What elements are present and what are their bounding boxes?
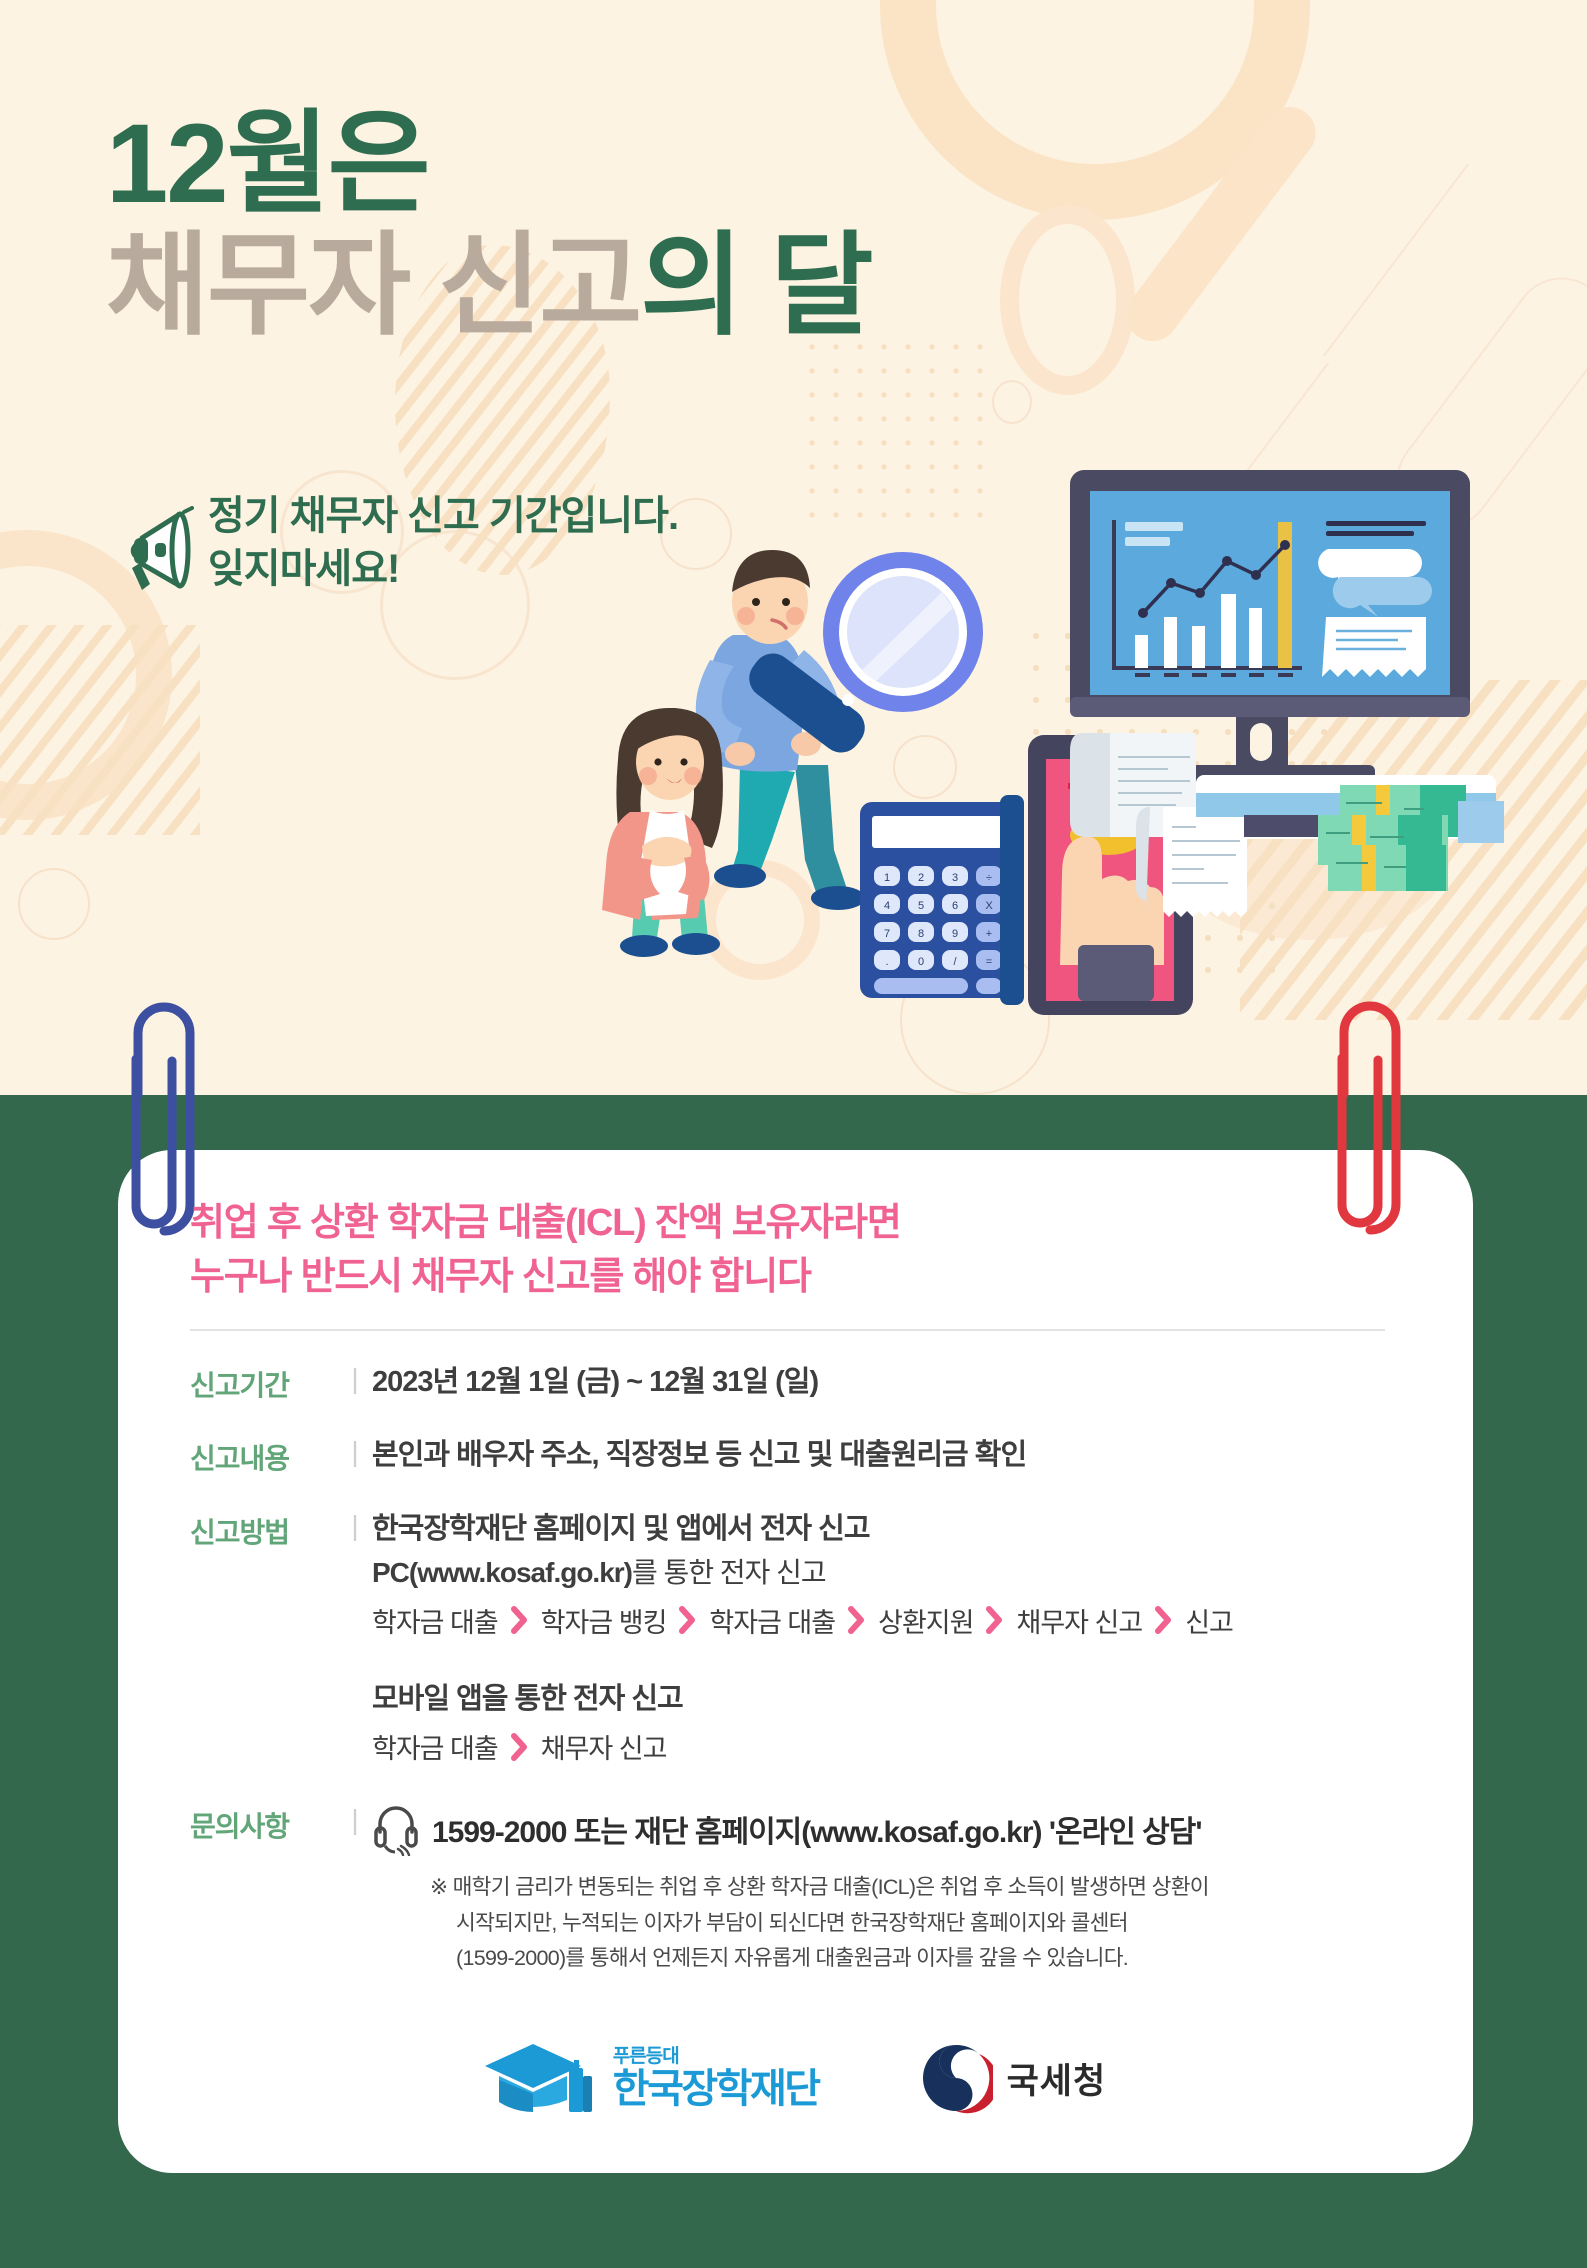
chevron-right-icon xyxy=(848,1606,865,1634)
breadcrumb-mobile: 학자금 대출 채무자 신고 xyxy=(372,1727,1420,1766)
contact-note-line-3: (1599-2000)를 통해서 언제든지 자유롭게 대출원금과 이자를 갚을 … xyxy=(430,1941,1420,1976)
graduation-cap-icon xyxy=(481,2040,599,2116)
subtitle-line-2: 잊지마세요! xyxy=(208,543,678,596)
card-headline-line-1: 취업 후 상환 학자금 대출(ICL) 잔액 보유자라면 xyxy=(190,1197,1420,1251)
info-row-separator: | xyxy=(338,1508,372,1766)
info-row-separator: | xyxy=(338,1434,372,1478)
contact-line: 1599-2000 또는 재단 홈페이지(www.kosaf.go.kr) '온… xyxy=(372,1802,1420,1856)
chevron-right-icon xyxy=(511,1733,528,1761)
calculator-illustration: 123 456 789 .0/ ÷X += xyxy=(858,800,1018,1000)
subtitle-line-1: 정기 채무자 신고 기간입니다. xyxy=(208,490,678,543)
info-row-period: 신고기간 | 2023년 12월 1일 (금) ~ 12월 31일 (일) xyxy=(190,1361,1420,1405)
chevron-right-icon xyxy=(1155,1606,1172,1634)
svg-text:5: 5 xyxy=(918,900,924,912)
decor-hatch-strip xyxy=(0,625,200,835)
method-mobile-block: 모바일 앱을 통한 전자 신고 학자금 대출 채무자 신고 xyxy=(372,1678,1420,1767)
method-pc-url: PC(www.kosaf.go.kr) xyxy=(372,1557,632,1588)
breadcrumb-item[interactable]: 학자금 대출 xyxy=(372,1601,498,1640)
svg-text:X: X xyxy=(985,900,993,912)
decor-slash-thick xyxy=(1116,97,1326,352)
breadcrumb-pc: 학자금 대출 학자금 뱅킹 학자금 대출 상환지원 채무자 신고 신고 xyxy=(372,1601,1420,1640)
poster-root: 12월은 채무자 신고의 달 정기 채무자 신고 기간입니다. 잊지마세요! xyxy=(0,0,1587,2268)
info-row-label: 신고기간 xyxy=(190,1361,338,1405)
breadcrumb-item[interactable]: 학자금 뱅킹 xyxy=(541,1601,667,1640)
info-row-contact: 문의사항 | 1599-2000 또는 재단 홈페이지(www.kosaf.go… xyxy=(190,1802,1420,1976)
svg-text:+: + xyxy=(986,928,992,940)
breadcrumb-item[interactable]: 채무자 신고 xyxy=(1016,1601,1142,1640)
info-row-body: 본인과 배우자 주소, 직장정보 등 신고 및 대출원리금 확인 xyxy=(372,1434,1420,1478)
breadcrumb-item[interactable]: 신고 xyxy=(1185,1601,1233,1640)
breadcrumb-item[interactable]: 상환지원 xyxy=(878,1601,973,1640)
svg-text:3: 3 xyxy=(952,872,958,884)
decor-ring-large xyxy=(880,0,1310,220)
breadcrumb-item[interactable]: 채무자 신고 xyxy=(541,1727,667,1766)
info-row-separator: | xyxy=(338,1361,372,1405)
tablet-documents-illustration xyxy=(1000,715,1540,1015)
contact-note-line-1: ※ 매학기 금리가 변동되는 취업 후 상환 학자금 대출(ICL)은 취업 후… xyxy=(430,1875,1209,1899)
info-row-method: 신고방법 | 한국장학재단 홈페이지 및 앱에서 전자 신고 PC(www.ko… xyxy=(190,1508,1420,1766)
card-headline: 취업 후 상환 학자금 대출(ICL) 잔액 보유자라면 누구나 반드시 채무자… xyxy=(190,1197,1420,1305)
decor-ring-oval xyxy=(1000,205,1135,395)
logo-kosaf: 푸른등대 한국장학재단 xyxy=(481,2040,819,2116)
method-pc-heading: 한국장학재단 홈페이지 및 앱에서 전자 신고 xyxy=(372,1508,1420,1552)
info-row-body: 한국장학재단 홈페이지 및 앱에서 전자 신고 PC(www.kosaf.go.… xyxy=(372,1508,1420,1766)
svg-text:7: 7 xyxy=(884,928,890,940)
breadcrumb-item[interactable]: 학자금 대출 xyxy=(709,1601,835,1640)
info-row-content: 신고내용 | 본인과 배우자 주소, 직장정보 등 신고 및 대출원리금 확인 xyxy=(190,1434,1420,1478)
chevron-right-icon xyxy=(679,1606,696,1634)
svg-text:0: 0 xyxy=(918,956,924,968)
title-line-1: 12월은 xyxy=(106,108,872,220)
headset-icon xyxy=(372,1802,420,1856)
person-woman-illustration xyxy=(580,700,840,960)
kosaf-wordmark: 푸른등대 한국장학재단 xyxy=(613,2047,819,2109)
megaphone-icon xyxy=(120,506,194,594)
info-row-label: 신고내용 xyxy=(190,1434,338,1478)
info-row-label: 문의사항 xyxy=(190,1802,338,1976)
kosaf-name: 한국장학재단 xyxy=(613,2069,819,2109)
svg-text:1: 1 xyxy=(884,872,890,884)
title-line-2: 채무자 신고의 달 xyxy=(106,220,872,352)
method-mobile-heading: 모바일 앱을 통한 전자 신고 xyxy=(372,1678,1420,1722)
contact-body: 1599-2000 또는 재단 홈페이지(www.kosaf.go.kr) '온… xyxy=(372,1802,1420,1976)
decor-dot-grid xyxy=(800,335,1000,520)
contact-note: ※ 매학기 금리가 변동되는 취업 후 상환 학자금 대출(ICL)은 취업 후… xyxy=(430,1870,1420,1976)
poster-subtitle-block: 정기 채무자 신고 기간입니다. 잊지마세요! xyxy=(120,490,678,596)
chevron-right-icon xyxy=(511,1606,528,1634)
info-row-value: 2023년 12월 1일 (금) ~ 12월 31일 (일) xyxy=(372,1361,1420,1405)
contact-text: 1599-2000 또는 재단 홈페이지(www.kosaf.go.kr) '온… xyxy=(432,1807,1201,1851)
nts-name: 국세청 xyxy=(1007,2053,1107,2104)
footer-logos: 푸른등대 한국장학재단 국세청 xyxy=(0,2040,1587,2116)
svg-text:.: . xyxy=(885,956,888,968)
svg-text:÷: ÷ xyxy=(986,872,992,884)
svg-text:8: 8 xyxy=(918,928,924,940)
method-pc-url-line: PC(www.kosaf.go.kr)를 통한 전자 신고 xyxy=(372,1551,1420,1594)
chevron-right-icon xyxy=(986,1606,1003,1634)
card-divider xyxy=(190,1329,1385,1331)
svg-text:9: 9 xyxy=(952,928,958,940)
contact-note-line-2: 시작되지만, 누적되는 이자가 부담이 되신다면 한국장학재단 홈페이지와 콜센… xyxy=(430,1906,1420,1941)
svg-text:2: 2 xyxy=(918,872,924,884)
kosaf-tagline: 푸른등대 xyxy=(613,2047,819,2066)
logo-nts: 국세청 xyxy=(919,2041,1107,2115)
taegeuk-icon xyxy=(919,2041,993,2115)
breadcrumb-item[interactable]: 학자금 대출 xyxy=(372,1727,498,1766)
svg-text:4: 4 xyxy=(884,900,890,912)
title-line-2-grey: 채무자 신고 xyxy=(106,223,640,348)
info-row-label: 신고방법 xyxy=(190,1508,338,1766)
method-pc-url-suffix: 를 통한 전자 신고 xyxy=(632,1557,826,1588)
decor-slash-thin xyxy=(1323,164,1469,357)
decor-ring-small xyxy=(18,868,90,940)
info-row-value: 본인과 배우자 주소, 직장정보 등 신고 및 대출원리금 확인 xyxy=(372,1434,1420,1478)
decor-ring-tiny xyxy=(992,380,1032,424)
card-content: 취업 후 상환 학자금 대출(ICL) 잔액 보유자라면 누구나 반드시 채무자… xyxy=(190,1197,1420,1977)
subtitle-text: 정기 채무자 신고 기간입니다. 잊지마세요! xyxy=(208,490,678,596)
info-row-separator: | xyxy=(338,1802,372,1976)
info-row-body: 2023년 12월 1일 (금) ~ 12월 31일 (일) xyxy=(372,1361,1420,1405)
title-line-2-green: 의 달 xyxy=(640,223,871,348)
card-headline-line-2: 누구나 반드시 채무자 신고를 해야 합니다 xyxy=(190,1251,1420,1305)
svg-text:=: = xyxy=(986,956,992,968)
poster-title: 12월은 채무자 신고의 달 xyxy=(106,108,872,352)
svg-text:6: 6 xyxy=(952,900,958,912)
